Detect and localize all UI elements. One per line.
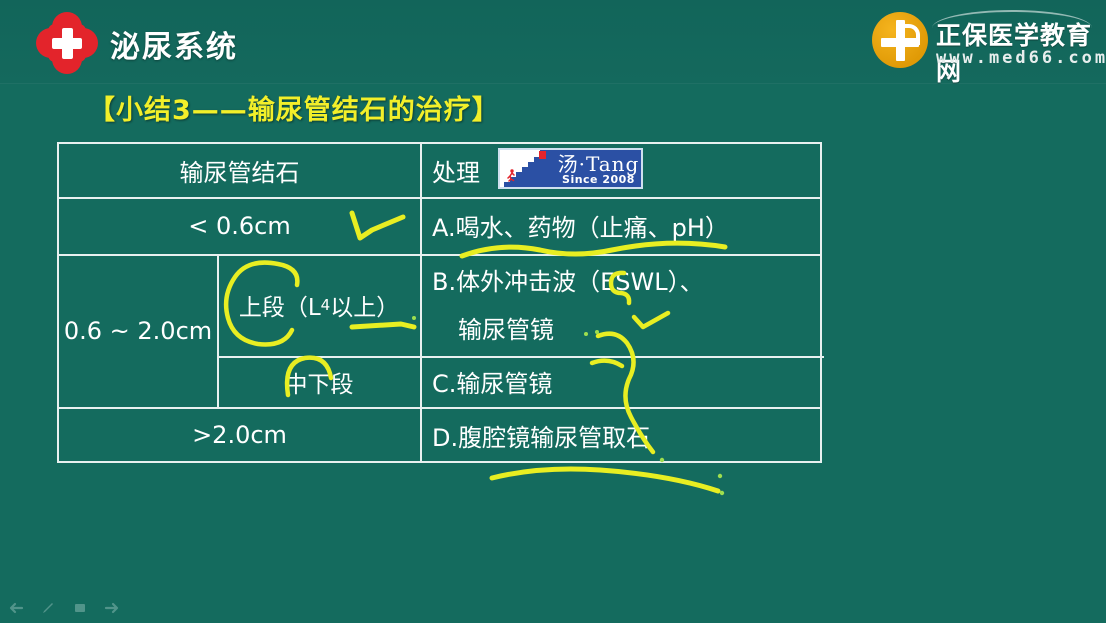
slide-screen: 泌尿系统 正保医学教育网 www.med66.com 【小结3——输尿管结石的治… (0, 0, 1106, 623)
med66-url: www.med66.com (936, 48, 1106, 68)
red-flag-icon (539, 151, 546, 159)
table-cell-segment-upper: 上段（L4以上） (219, 254, 419, 356)
table-cell-treatment-3: C.输尿管镜 (432, 356, 812, 407)
forward-arrow-icon[interactable] (104, 600, 120, 616)
red-cross-icon (36, 12, 98, 74)
med66-logo: 正保医学教育网 www.med66.com (872, 8, 1094, 76)
tang-since-label: Since 2008 (556, 172, 641, 186)
table-cell-size-4: >2.0cm (59, 407, 420, 463)
ink-dot-3 (720, 491, 724, 495)
running-person-icon (506, 169, 517, 182)
table-cell-treatment-2-line1: B.体外冲击波（ESWL）、 (432, 262, 812, 296)
player-ink-toolbar[interactable] (8, 597, 120, 619)
slide-header-bar: 泌尿系统 正保医学教育网 www.med66.com (0, 0, 1106, 84)
back-arrow-icon[interactable] (8, 600, 24, 616)
segment-paren-rest: 以上） (330, 288, 399, 322)
segment-sub-4: 4 (321, 296, 331, 314)
segment-upper-label: 上段 (239, 288, 285, 322)
med66-circle-icon (872, 12, 928, 68)
segment-paren-open: （L (285, 288, 321, 322)
ink-dot-2 (718, 474, 722, 478)
table-cell-size-2: 0.6 ~ 2.0cm (59, 254, 217, 407)
table-cell-treatment-1: A.喝水、药物（止痛、pH） (432, 197, 812, 254)
pen-icon[interactable] (40, 600, 56, 616)
tang-watermark: 汤·Tang Since 2008 (498, 148, 643, 189)
underline-bottom (492, 469, 718, 491)
tang-brand-cn: 汤·Tang (556, 150, 641, 174)
page-title: 【小结3——输尿管结石的治疗】 (88, 88, 500, 127)
table-cell-segment-lower: 中下段 (219, 356, 419, 407)
table-cell-size-1: < 0.6cm (59, 197, 420, 254)
table-cell-treatment-4: D.腹腔镜输尿管取石 (432, 407, 812, 463)
table-vline-main (420, 142, 422, 463)
square-icon[interactable] (72, 600, 88, 616)
table-header-col1: 输尿管结石 (59, 144, 420, 197)
course-title: 泌尿系统 (110, 22, 238, 66)
table-cell-treatment-2-line2: 输尿管镜 (458, 310, 838, 344)
